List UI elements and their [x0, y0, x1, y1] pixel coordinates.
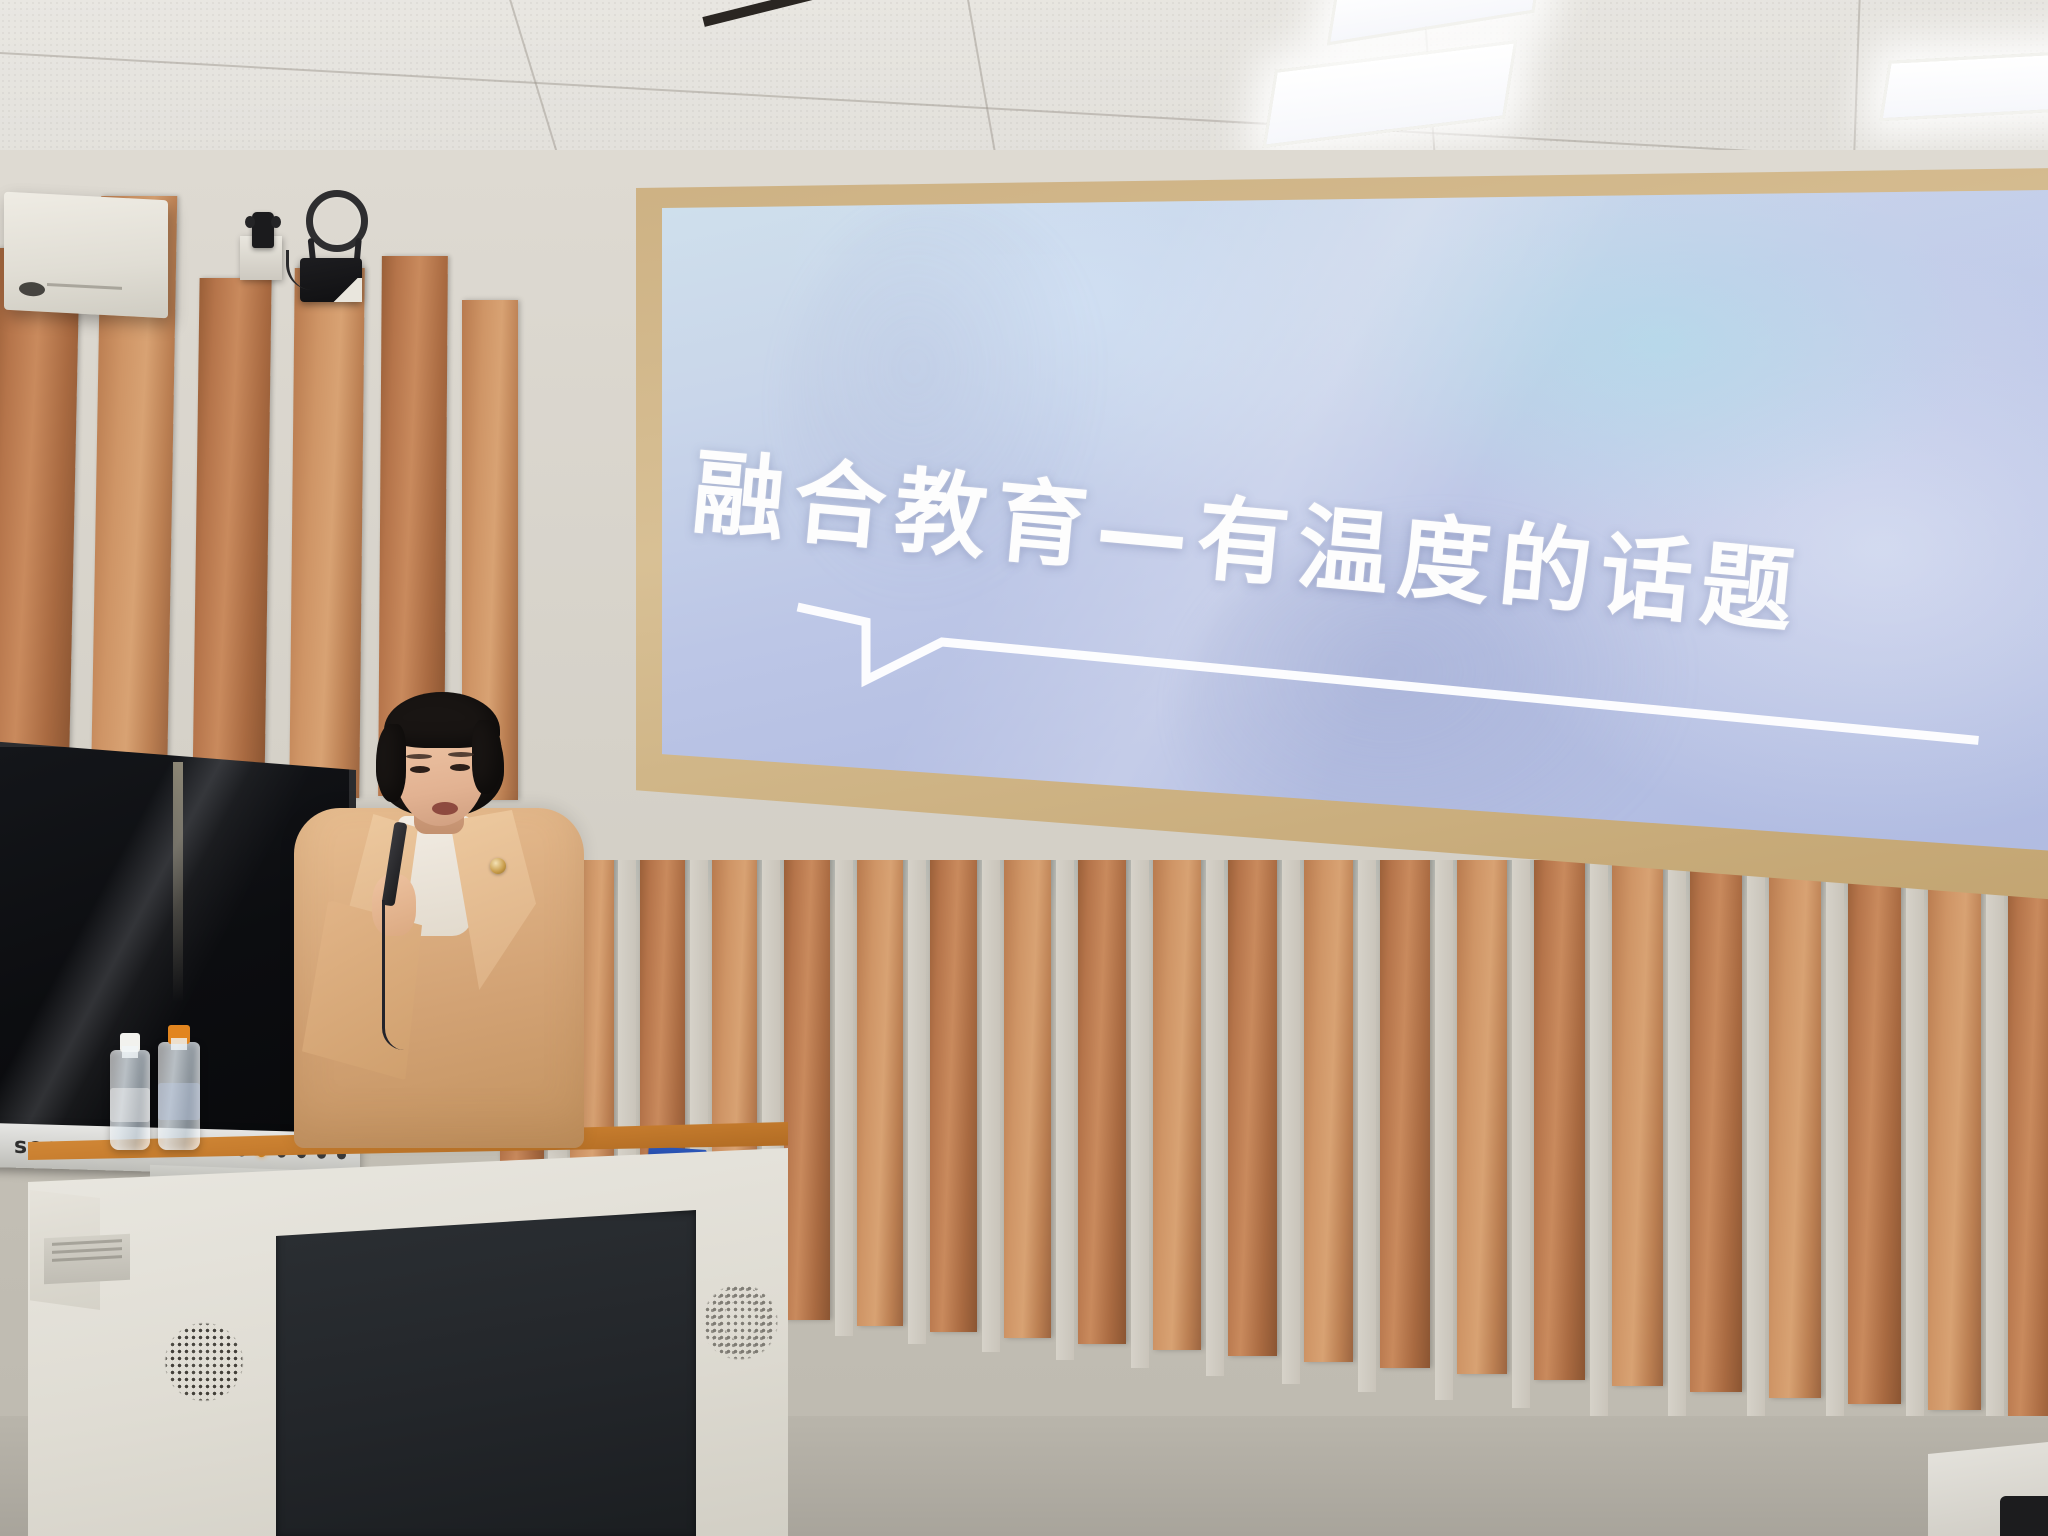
bottle-neck — [171, 1038, 188, 1050]
presenter-hair-side — [376, 724, 406, 802]
podium-front-panel — [276, 1210, 696, 1536]
podium-vent — [44, 1234, 130, 1285]
camera-icon — [252, 212, 274, 248]
bottle-label — [110, 1088, 150, 1122]
podium-emblem-left-glyph — [169, 1327, 238, 1396]
microphone-cable — [382, 900, 404, 1050]
presenter — [290, 690, 710, 1160]
wall-speaker — [4, 192, 168, 319]
presenter-eye-right — [450, 764, 470, 771]
podium-emblem-right — [690, 1264, 790, 1380]
presenter-eyebrow-left — [406, 754, 432, 759]
presenter-eye-left — [410, 766, 430, 773]
presenter-hair-side — [472, 720, 502, 794]
lecture-hall-scene: 融合教育—有温度的话题 seewo — [0, 0, 2048, 1536]
side-cabinet-screen — [2000, 1496, 2048, 1536]
water-bottle-right[interactable] — [158, 1042, 200, 1150]
bottle-neck — [122, 1046, 138, 1058]
wall-slat — [0, 248, 80, 808]
brooch — [490, 858, 506, 874]
speaker-grille-line — [47, 283, 122, 290]
water-bottle-left[interactable] — [110, 1050, 150, 1150]
ceiling-light-panel — [1879, 51, 2048, 122]
wall-slat — [192, 278, 271, 798]
presenter-mouth — [432, 802, 458, 815]
podium-emblem-left — [148, 1306, 260, 1418]
slide-title-underline — [684, 580, 1994, 740]
bottle-label — [158, 1083, 200, 1120]
podium-emblem-right-glyph — [709, 1286, 771, 1358]
presenter-eyebrow-right — [448, 752, 474, 757]
